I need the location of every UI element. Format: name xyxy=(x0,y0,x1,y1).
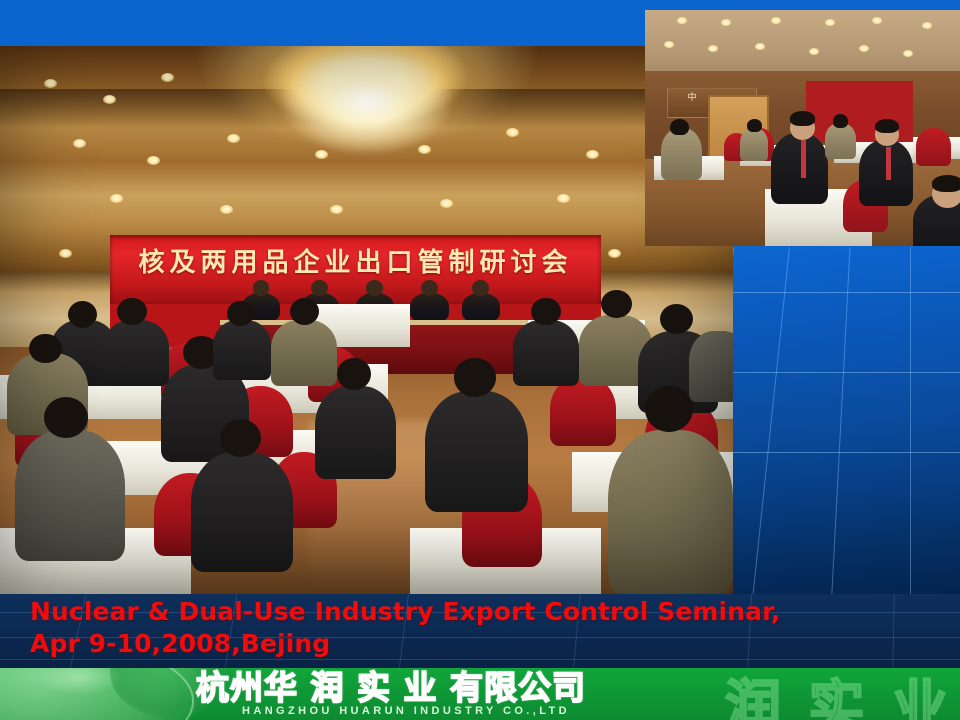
title-band: Nuclear & Dual-Use Industry Export Contr… xyxy=(0,594,960,668)
top-blue-band xyxy=(0,0,733,47)
delegates-photo xyxy=(645,10,960,246)
company-logo: 杭州华 润 实 业 有限公司 HANGZHOU HUARUN INDUSTRY … xyxy=(196,670,666,717)
bubble-ring xyxy=(0,668,194,720)
main-conference-photo: 核及两用品企业出口管制研讨会 xyxy=(0,46,733,594)
company-name-english: HANGZHOU HUARUN INDUSTRY CO.,LTD xyxy=(196,705,666,717)
slide-title-line1: Nuclear & Dual-Use Industry Export Contr… xyxy=(30,597,780,626)
slide-title: Nuclear & Dual-Use Industry Export Contr… xyxy=(30,596,940,660)
slide-title-line2: Apr 9-10,2008,Bejing xyxy=(30,628,940,660)
photo-vignette xyxy=(0,46,733,594)
company-logo-banner: 润 实 业 杭州华 润 实 业 有限公司 HANGZHOU HUARUN IND… xyxy=(0,668,960,720)
logo-watermark: 润 实 业 xyxy=(725,668,952,720)
blue-globe-panel xyxy=(733,247,960,594)
company-name-chinese: 杭州华 润 实 业 有限公司 xyxy=(196,670,666,706)
presentation-slide: 核及两用品企业出口管制研讨会 xyxy=(0,0,960,720)
